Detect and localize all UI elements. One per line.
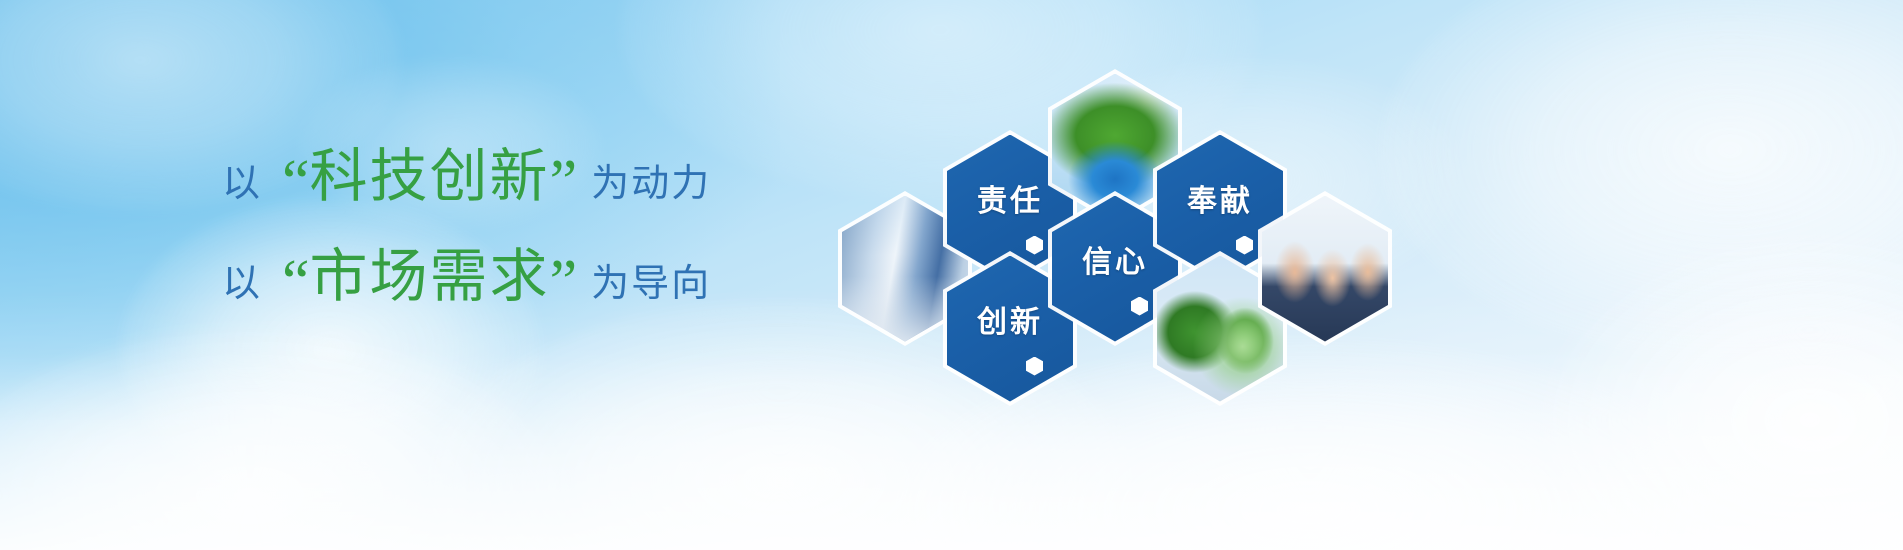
slogan-lead-2: 以 — [222, 265, 262, 303]
slogan-open-quote-2: “ — [282, 251, 310, 313]
corporate-banner: 以 “ 科技创新 ” 为动力 以 “ 市场需求 ” 为导向 责任 — [0, 0, 1903, 550]
hex-dot-icon — [1026, 357, 1043, 376]
business-team-thumbs-up-photo — [1262, 196, 1388, 342]
slogan-block: 以 “ 科技创新 ” 为动力 以 “ 市场需求 ” 为导向 — [222, 145, 862, 307]
slogan-keyword-2: 市场需求 — [310, 248, 550, 306]
hex-dot-icon — [1026, 236, 1043, 255]
slogan-open-quote-1: “ — [282, 151, 310, 213]
slogan-close-quote-2: ” — [550, 251, 578, 313]
slogan-tail-1: 为动力 — [591, 165, 711, 203]
slogan-line-1: 以 “ 科技创新 ” 为动力 — [222, 145, 862, 207]
hexagon-cluster: 责任 创新 信心 — [830, 55, 1430, 395]
hex-label-innovation: 创新 — [977, 297, 1043, 341]
hex-dot-icon — [1131, 297, 1148, 316]
hex-label-responsibility: 责任 — [977, 176, 1043, 220]
cloud-blob — [0, 330, 560, 550]
slogan-close-quote-1: ” — [550, 151, 578, 213]
slogan-keyword-1: 科技创新 — [310, 148, 550, 206]
hex-label-dedication: 奉献 — [1187, 176, 1253, 220]
slogan-lead-1: 以 — [222, 165, 262, 203]
hex-label-confidence: 信心 — [1082, 237, 1148, 281]
hex-dot-icon — [1236, 236, 1253, 255]
cloud-blob — [1550, 240, 1903, 550]
slogan-line-2: 以 “ 市场需求 ” 为导向 — [222, 245, 862, 307]
cloud-blob — [1380, 0, 1903, 360]
slogan-tail-2: 为导向 — [591, 265, 711, 303]
